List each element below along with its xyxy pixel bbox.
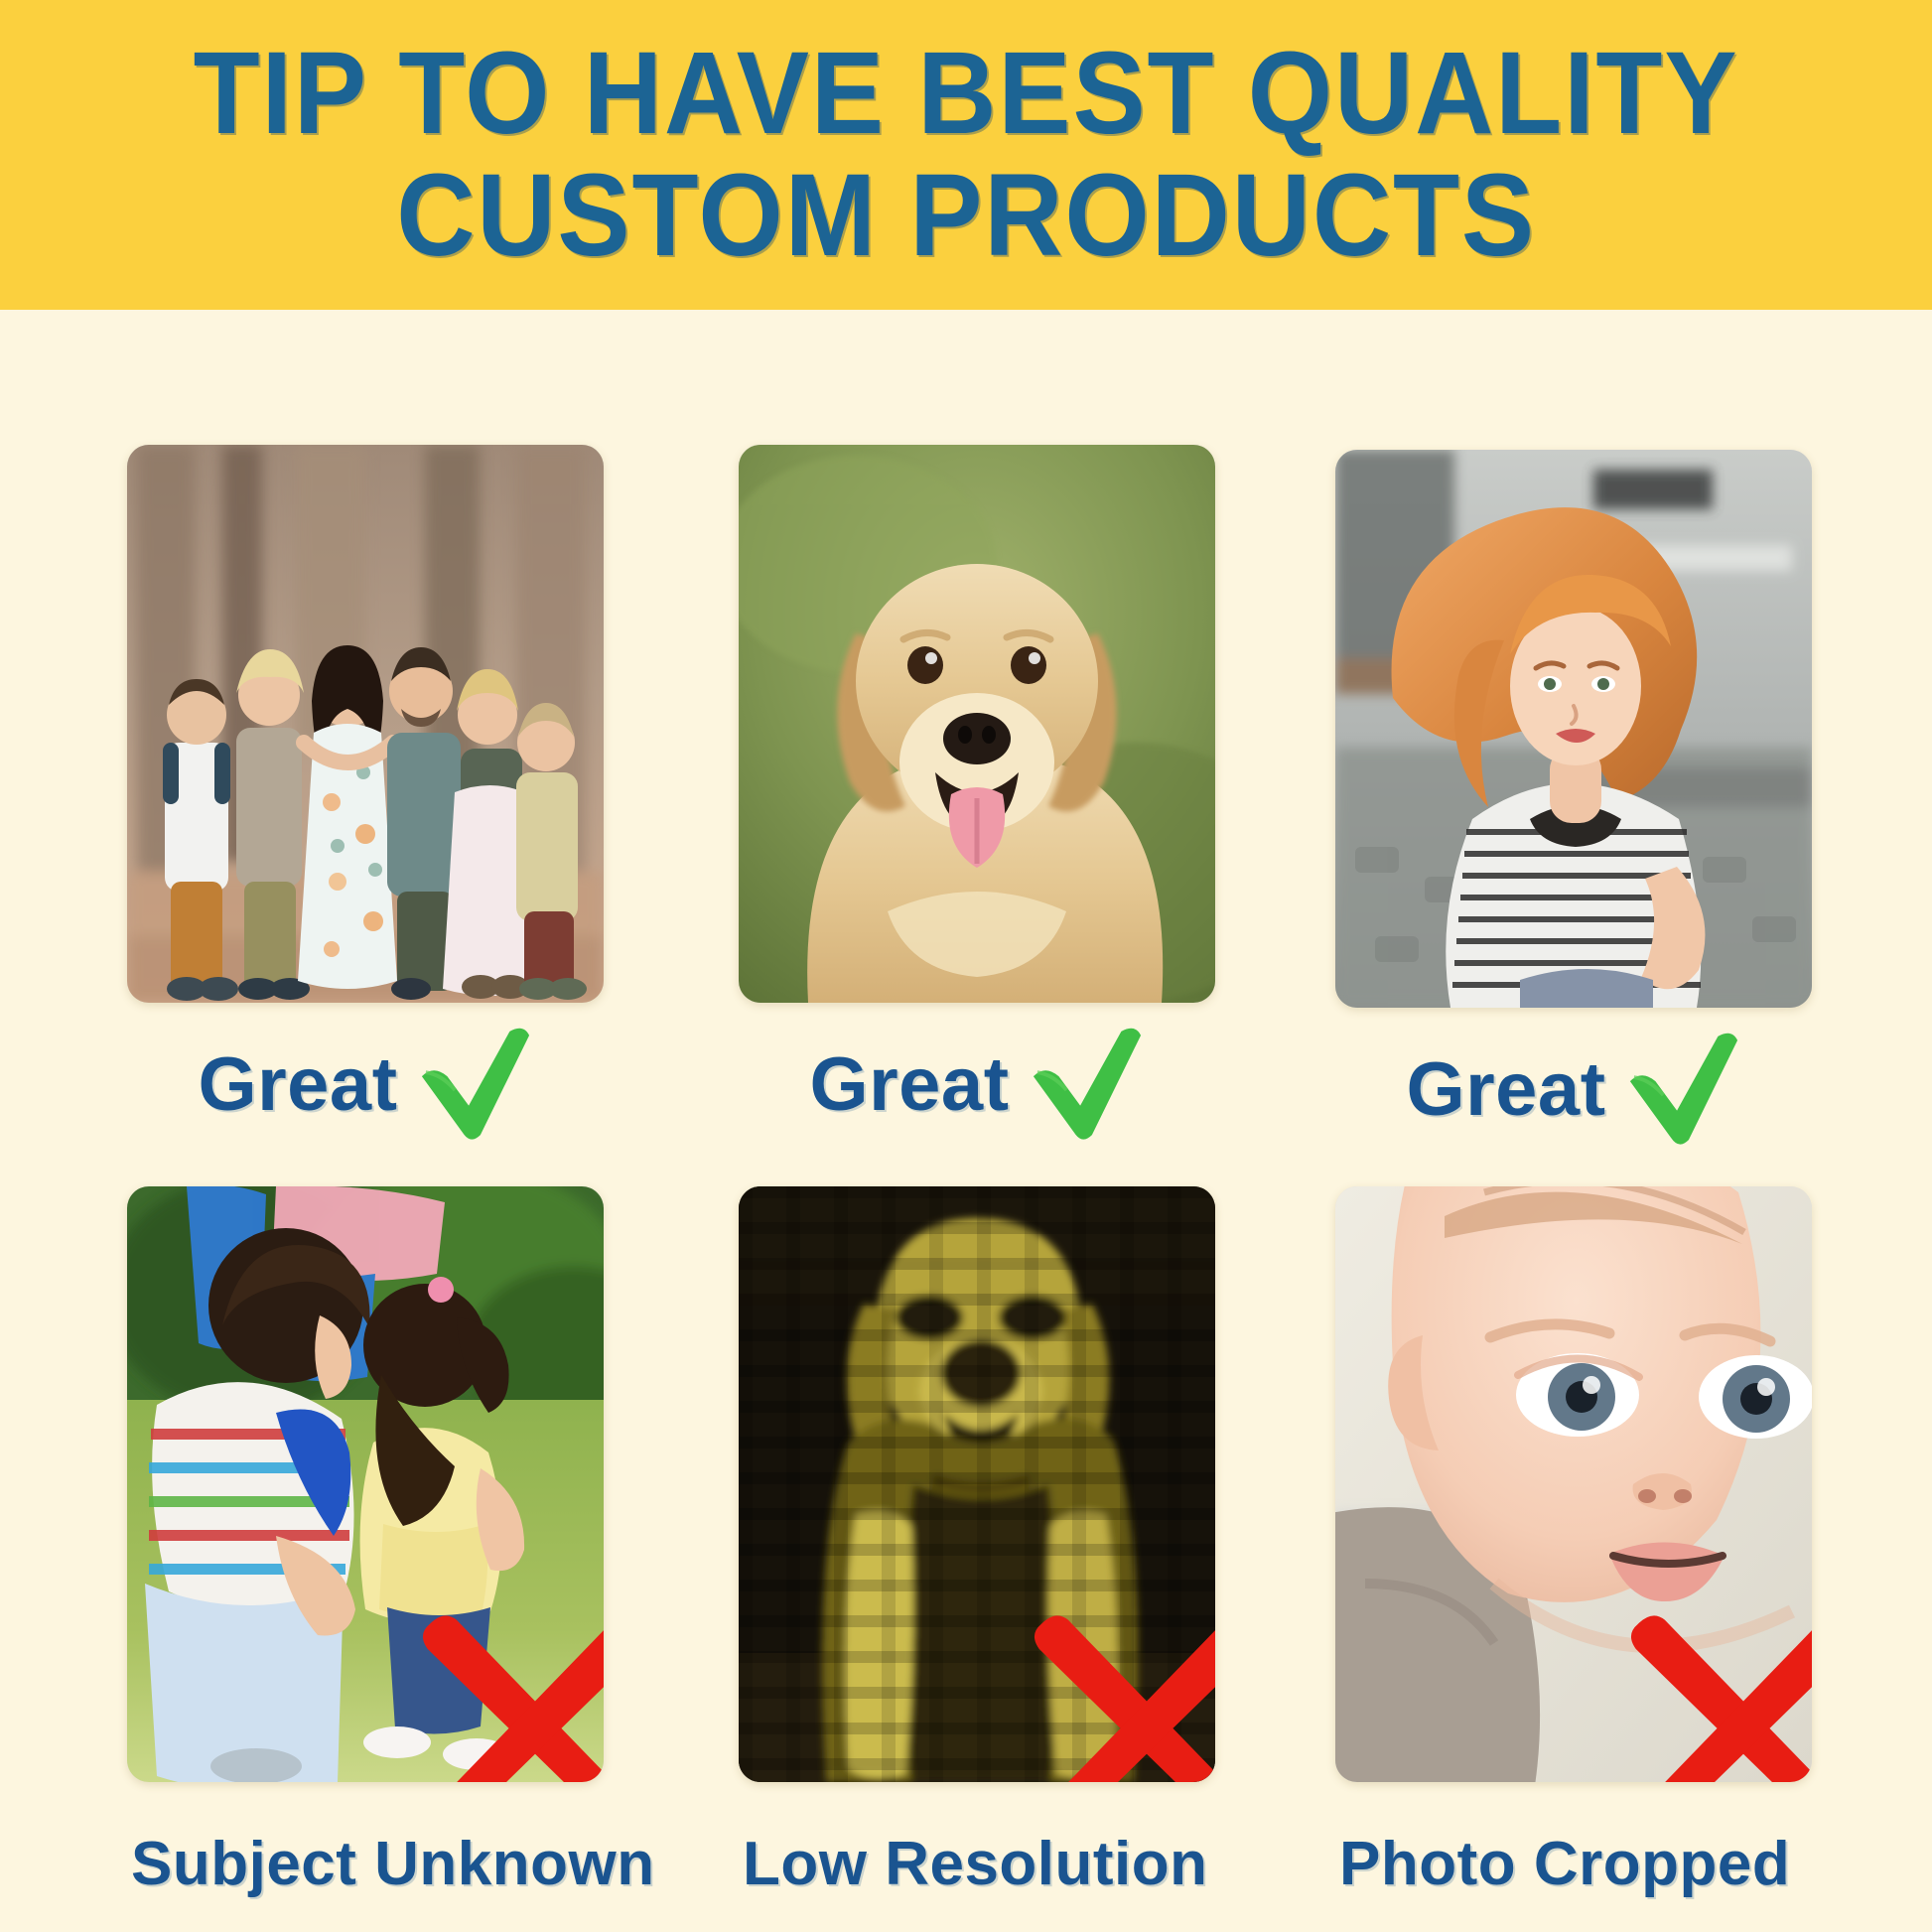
golden-retriever-closeup-photo	[739, 445, 1215, 1003]
pixelated-dark-dog-photo	[739, 1186, 1215, 1782]
green-check-icon	[1624, 1031, 1741, 1148]
grid-cell-lowres: Low Resolution	[739, 1186, 1342, 1923]
green-check-icon	[416, 1026, 533, 1143]
photo-card-baby[interactable]	[1335, 1186, 1812, 1782]
tips-grid: Great	[0, 310, 1932, 1932]
caption-family: Great	[127, 1025, 604, 1144]
caption-label-lowres: Low Resolution	[743, 1829, 1208, 1899]
caption-label-kids: Subject Unknown	[131, 1829, 655, 1899]
grid-cell-woman: Great	[1335, 450, 1932, 1149]
caption-dog: Great	[739, 1025, 1215, 1144]
family-group-outdoor-photo	[127, 445, 604, 1003]
children-running-backs-turned-photo	[127, 1186, 604, 1782]
header-banner: TIP TO HAVE BEST QUALITY CUSTOM PRODUCTS	[0, 0, 1932, 310]
caption-label-dog: Great	[809, 1041, 1009, 1128]
photo-card-kids[interactable]	[127, 1186, 604, 1782]
caption-label-family: Great	[198, 1041, 397, 1128]
grid-cell-family: Great	[127, 445, 731, 1144]
photo-card-family[interactable]	[127, 445, 604, 1003]
caption-baby: Photo Cropped	[1335, 1804, 1816, 1923]
caption-label-baby: Photo Cropped	[1339, 1829, 1790, 1899]
green-check-icon	[1028, 1026, 1145, 1143]
grid-cell-dog: Great	[739, 445, 1342, 1144]
photo-card-dog[interactable]	[739, 445, 1215, 1003]
caption-kids: Subject Unknown	[127, 1804, 608, 1923]
grid-cell-baby: Photo Cropped	[1335, 1186, 1932, 1923]
banner-title-line-2: CUSTOM PRODUCTS	[396, 155, 1536, 277]
cropped-baby-face-photo	[1335, 1186, 1812, 1782]
photo-card-lowres[interactable]	[739, 1186, 1215, 1782]
grid-cell-kids: Subject Unknown	[127, 1186, 731, 1923]
photo-card-woman[interactable]	[1335, 450, 1812, 1008]
caption-label-woman: Great	[1406, 1046, 1605, 1133]
caption-lowres: Low Resolution	[739, 1804, 1219, 1923]
banner-title-line-1: TIP TO HAVE BEST QUALITY	[194, 33, 1739, 155]
red-haired-woman-street-photo	[1335, 450, 1812, 1008]
caption-woman: Great	[1335, 1030, 1812, 1149]
